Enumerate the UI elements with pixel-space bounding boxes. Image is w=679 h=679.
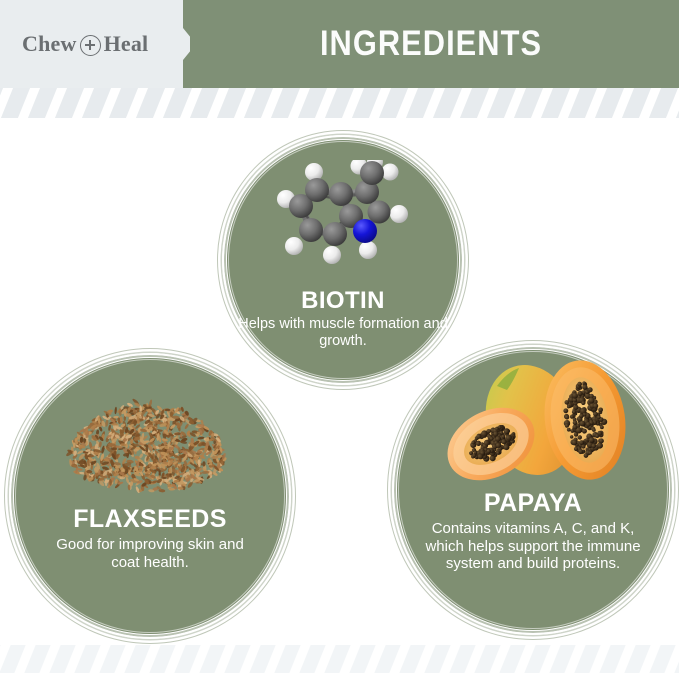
stripe [522,645,553,673]
ingredient-card-biotin[interactable]: BIOTIN Helps with muscle formation and g… [227,140,459,380]
stripe [347,645,378,673]
stripe [22,645,53,673]
papaya-fruit-icon [427,358,647,498]
stripe [134,88,168,118]
stripe [372,645,403,673]
stripe [593,88,627,118]
stripe [647,645,678,673]
stripe [485,88,519,118]
stripe [269,88,303,118]
card-title-papaya: PAPAYA [397,490,669,516]
stripe [296,88,330,118]
header-bar: INGREDIENTS Chew Heal [0,0,679,88]
stripe [350,88,384,118]
brand-logo[interactable]: Chew Heal [22,28,172,60]
stripe [622,645,653,673]
stripe [172,645,203,673]
stripe [222,645,253,673]
stripe [547,645,578,673]
stripe [377,88,411,118]
stripe [122,645,153,673]
stripe [397,645,428,673]
stripe [323,88,357,118]
stripe [197,645,228,673]
brand-logo-word-heal: Heal [104,31,149,57]
stripe [80,88,114,118]
stripe [147,645,178,673]
stripe [215,88,249,118]
card-title-biotin: BIOTIN [227,288,459,313]
stripe-divider-top [0,88,679,118]
molecule-ball-and-stick-icon [271,160,419,278]
page-title: INGREDIENTS [213,0,649,88]
card-description-biotin: Helps with muscle formation and growth. [227,316,459,350]
stripe [404,88,438,118]
stripe [53,88,87,118]
stripe [297,645,328,673]
card-description-papaya: Contains vitamins A, C, and K, which hel… [397,520,669,573]
stripe [566,88,600,118]
stripe [242,88,276,118]
stripe [422,645,453,673]
stripe [97,645,128,673]
stripe [620,88,654,118]
stripe [47,645,78,673]
stripe [597,645,628,673]
header-logo-panel: Chew Heal [0,0,190,88]
stripe [247,645,278,673]
stripe [322,645,353,673]
ingredients-infographic: INGREDIENTS Chew Heal [0,0,679,679]
stripe [497,645,528,673]
stripe [107,88,141,118]
card-title-flaxseeds: FLAXSEEDS [14,506,286,532]
stripe [431,88,465,118]
stripe [458,88,492,118]
ingredient-card-flaxseeds[interactable]: FLAXSEEDS Good for improving skin and co… [14,358,286,634]
stripe [647,88,679,118]
stripe [272,645,303,673]
card-description-flaxseeds: Good for improving skin and coat health. [14,536,286,571]
stripe [512,88,546,118]
stripe [539,88,573,118]
stripe [188,88,222,118]
stripe [572,645,603,673]
plus-in-circle-icon [80,35,101,56]
stripe [447,645,478,673]
flaxseed-pile-icon [52,390,242,500]
stripe [472,645,503,673]
stripe [0,645,28,673]
stripe [0,88,32,118]
ingredient-card-papaya[interactable]: PAPAYA Contains vitamins A, C, and K, wh… [397,350,669,630]
stripe [161,88,195,118]
stripe-divider-bottom [0,645,679,673]
stripe [72,645,103,673]
brand-logo-word-chew: Chew [22,31,77,57]
stripe [26,88,60,118]
